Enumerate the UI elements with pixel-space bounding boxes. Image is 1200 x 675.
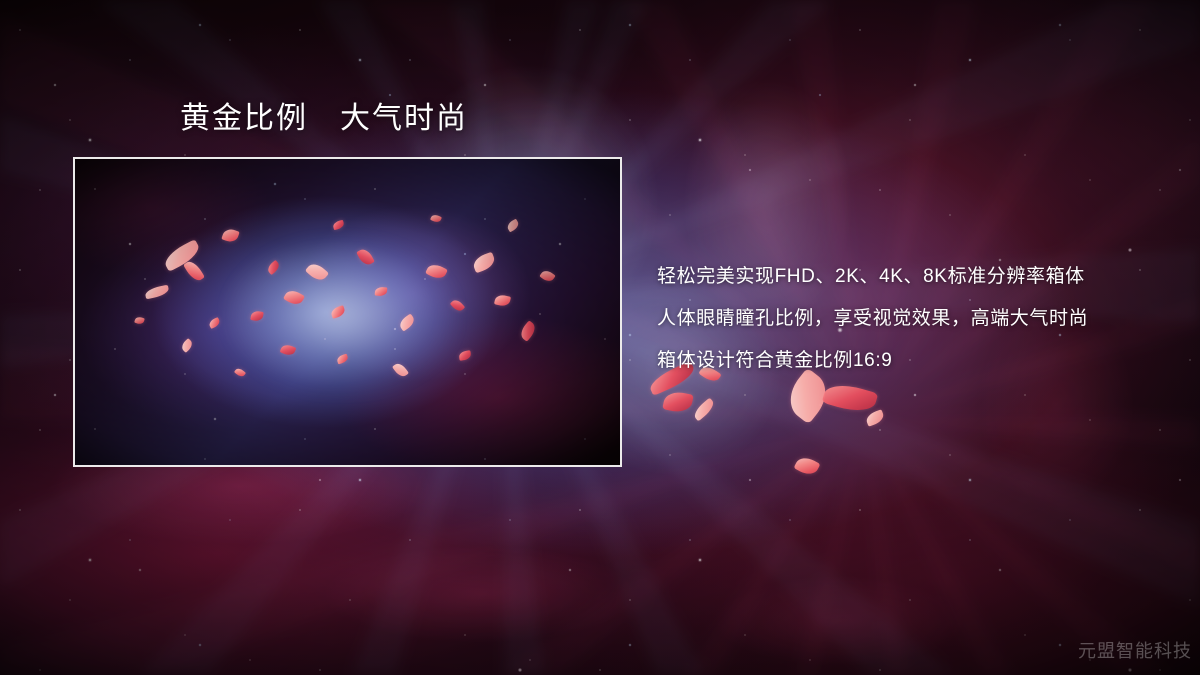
watermark: 元盟智能科技: [1078, 637, 1192, 663]
body-line-2: 人体眼睛瞳孔比例，享受视觉效果，高端大气时尚: [657, 298, 1167, 340]
page-title: 黄金比例 大气时尚: [180, 100, 468, 138]
body-text-block: 轻松完美实现FHD、2K、4K、8K标准分辨率箱体 人体眼睛瞳孔比例，享受视觉效…: [657, 256, 1167, 382]
image-panel-frame: [73, 157, 622, 467]
body-line-3: 箱体设计符合黄金比例16:9: [657, 340, 1167, 382]
slide-canvas: 黄金比例 大气时尚 轻松完美实现FHD、2K、4K、8K标准分辨率箱体 人体眼睛…: [0, 0, 1200, 675]
panel-vignette: [75, 159, 620, 465]
body-line-1: 轻松完美实现FHD、2K、4K、8K标准分辨率箱体: [657, 256, 1167, 298]
